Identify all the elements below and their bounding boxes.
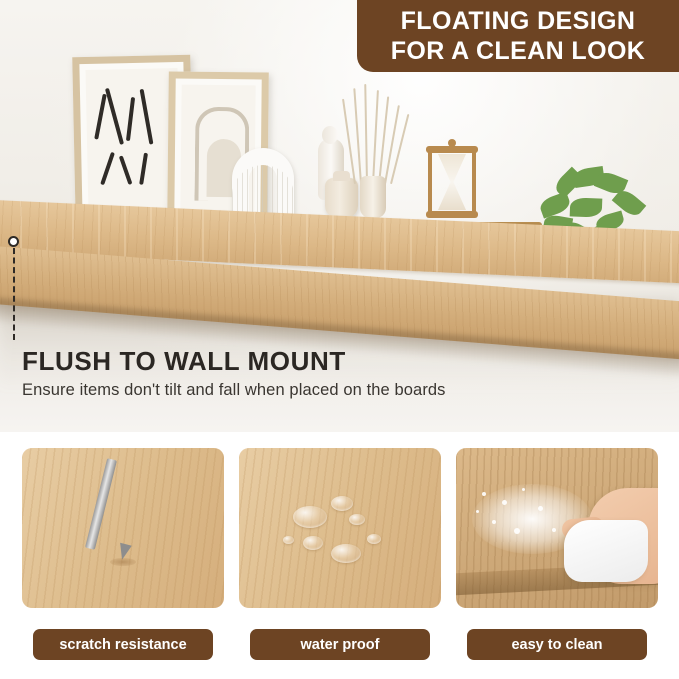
- scratch-mark: [110, 558, 136, 566]
- card-label-water-proof: water proof: [250, 629, 430, 660]
- feature-card-easy-to-clean: easy to clean: [456, 448, 658, 660]
- feature-card-water-proof: water proof: [239, 448, 441, 660]
- cleaning-cloth: [564, 520, 648, 582]
- hourglass-top-plate: [426, 146, 478, 153]
- product-feature-graphic: FLOATING DESIGN FOR A CLEAN LOOK FLUSH T…: [0, 0, 679, 679]
- callout-dashed-line: [13, 248, 15, 340]
- feature-card-row: scratch resistance water proof: [22, 448, 658, 660]
- badge-line-2: FOR A CLEAN LOOK: [391, 36, 646, 66]
- water-droplet: [349, 514, 365, 525]
- wood-surface: [239, 448, 441, 608]
- water-droplet: [303, 536, 323, 550]
- card-label-easy-to-clean: easy to clean: [467, 629, 647, 660]
- water-droplet: [331, 496, 353, 511]
- scratch-resistance-photo: [22, 448, 224, 608]
- easy-to-clean-photo: [456, 448, 658, 608]
- page-title: FLUSH TO WALL MOUNT: [22, 346, 346, 377]
- card-label-scratch-resistance: scratch resistance: [33, 629, 213, 660]
- feature-card-scratch-resistance: scratch resistance: [22, 448, 224, 660]
- page-subtitle: Ensure items don't tilt and fall when pl…: [22, 381, 446, 400]
- water-droplet: [293, 506, 327, 528]
- badge-line-1: FLOATING DESIGN: [401, 6, 636, 36]
- floating-shelf-board: [0, 200, 679, 330]
- floating-design-badge: FLOATING DESIGN FOR A CLEAN LOOK: [357, 0, 679, 72]
- wood-surface: [22, 448, 224, 608]
- frame-mat: [86, 68, 181, 214]
- water-droplet: [367, 534, 381, 544]
- water-proof-photo: [239, 448, 441, 608]
- water-droplet: [331, 544, 361, 563]
- water-droplet: [283, 536, 294, 544]
- callout-dot-marker: [8, 236, 19, 247]
- dried-reeds: [352, 84, 400, 184]
